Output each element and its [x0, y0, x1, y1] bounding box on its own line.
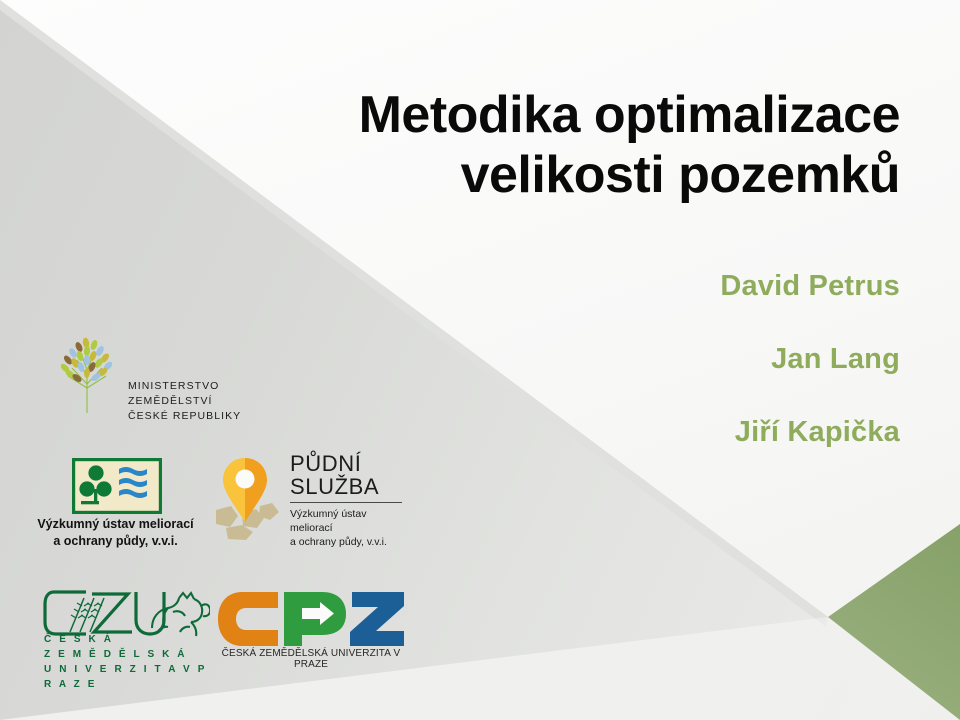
pudni-sluzba-subtitle: Výzkumný ústav meliorací a ochrany půdy,…	[290, 507, 407, 550]
czu-line-2: Z E M Ě D Ě L S K Á	[44, 647, 210, 662]
pudni-title-line-1: PŮDNÍ	[290, 452, 379, 475]
czu-line-1: Č E S K Á	[44, 632, 210, 647]
author-name: Jiří Kapička	[420, 416, 900, 449]
title-line-1: Metodika optimalizace	[200, 86, 900, 146]
field-and-water-icon	[72, 458, 162, 514]
title-line-2: velikosti pozemků	[200, 146, 900, 206]
czu-wordmark: Č E S K Á Z E M Ě D Ě L S K Á U N I V E …	[44, 632, 210, 692]
pudni-sluzba-title: PŮDNÍ SLUŽBA	[290, 452, 379, 499]
map-pin-icon	[212, 454, 284, 540]
slide-title: Metodika optimalizace velikosti pozemků	[200, 86, 900, 206]
logo-pudni-sluzba: PŮDNÍ SLUŽBA Výzkumný ústav meliorací a …	[212, 452, 407, 548]
author-name: Jan Lang	[420, 343, 900, 376]
vumop-line-2: a ochrany půdy, v.v.i.	[28, 533, 203, 550]
logo-czu: Č E S K Á Z E M Ě D Ě L S K Á U N I V E …	[40, 588, 210, 668]
vumop-wordmark: Výzkumný ústav meliorací a ochrany půdy,…	[28, 516, 203, 550]
pudni-title-line-2: SLUŽBA	[290, 475, 379, 498]
cpz-subtitle: ČESKÁ ZEMĚDĚLSKÁ UNIVERZITA V PRAZE	[216, 648, 406, 670]
logo-ministry-of-agriculture: MINISTERSTVO ZEMĚDĚLSTVÍ ČESKÉ REPUBLIKY	[56, 332, 266, 424]
pudni-sub-line-2: a ochrany půdy, v.v.i.	[290, 535, 407, 549]
logo-vumop: Výzkumný ústav meliorací a ochrany půdy,…	[28, 458, 203, 553]
cpz-arrow-icon	[216, 590, 406, 648]
pudni-sluzba-divider	[290, 502, 402, 503]
vumop-line-1: Výzkumný ústav meliorací	[28, 516, 203, 533]
tree-icon	[56, 332, 118, 414]
czu-line-3: U N I V E R Z I T A V P R A Z E	[44, 662, 210, 692]
ministry-line-1: MINISTERSTVO ZEMĚDĚLSTVÍ	[128, 379, 266, 409]
ministry-line-2: ČESKÉ REPUBLIKY	[128, 409, 266, 424]
author-name: David Petrus	[420, 270, 900, 303]
pudni-sub-line-1: Výzkumný ústav meliorací	[290, 507, 407, 535]
presentation-slide: Metodika optimalizace velikosti pozemků …	[0, 0, 960, 720]
ministry-wordmark: MINISTERSTVO ZEMĚDĚLSTVÍ ČESKÉ REPUBLIKY	[128, 379, 266, 425]
author-list: David Petrus Jan Lang Jiří Kapička	[420, 270, 900, 449]
logo-cpz: ČESKÁ ZEMĚDĚLSKÁ UNIVERZITA V PRAZE	[216, 590, 406, 668]
